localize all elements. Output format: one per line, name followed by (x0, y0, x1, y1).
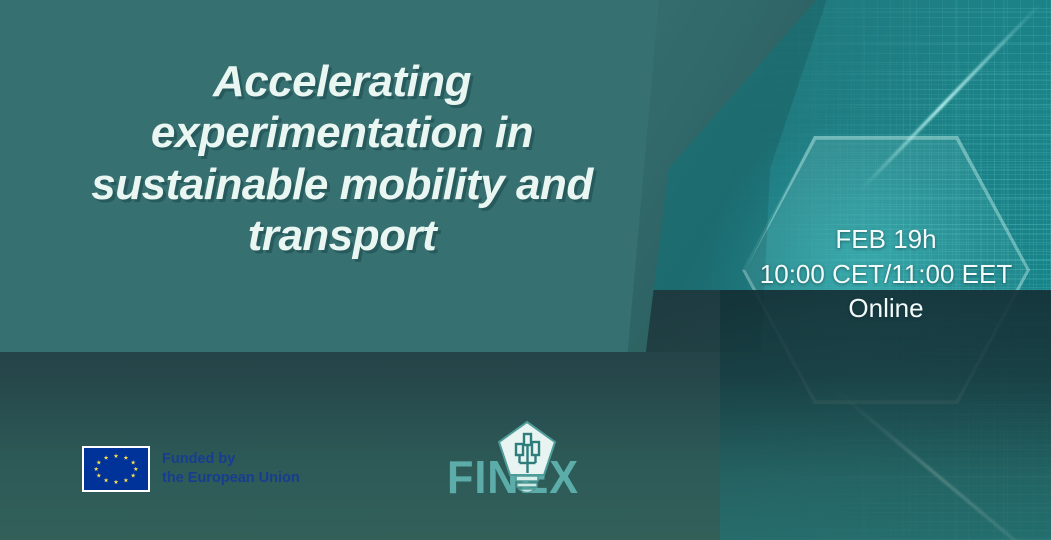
eu-flag-icon (82, 446, 150, 492)
event-mode: Online (728, 291, 1044, 326)
event-poster: Accelerating experimentation in sustaina… (0, 0, 1051, 540)
eu-funding-text: Funded by the European Union (162, 450, 300, 488)
eu-star-icon (123, 455, 128, 460)
eu-star-icon (104, 478, 109, 483)
eu-funding-line2: the European Union (162, 469, 300, 488)
headline-line: transport (42, 210, 642, 261)
headline-line: Accelerating (42, 56, 642, 107)
poster-headline: Accelerating experimentation in sustaina… (42, 56, 642, 262)
eu-star-icon (133, 467, 138, 472)
finex-logo: FINEX (418, 420, 608, 504)
headline-line: experimentation in (42, 107, 642, 158)
event-details: FEB 19h 10:00 CET/11:00 EET Online (728, 222, 1044, 326)
eu-star-icon (96, 473, 101, 478)
eu-star-icon (114, 453, 119, 458)
eu-star-icon (131, 473, 136, 478)
headline-line: sustainable mobility and (42, 159, 642, 210)
eu-star-icon (114, 480, 119, 485)
eu-star-icon (94, 467, 99, 472)
event-date: FEB 19h (728, 222, 1044, 257)
eu-funding-line1: Funded by (162, 450, 300, 469)
eu-star-icon (96, 460, 101, 465)
eu-funding-logo: Funded by the European Union (82, 446, 300, 492)
eu-star-icon (131, 460, 136, 465)
eu-star-icon (104, 455, 109, 460)
event-time: 10:00 CET/11:00 EET (728, 257, 1044, 292)
finex-pentagon-bulb-icon (496, 420, 558, 496)
eu-star-icon (123, 478, 128, 483)
